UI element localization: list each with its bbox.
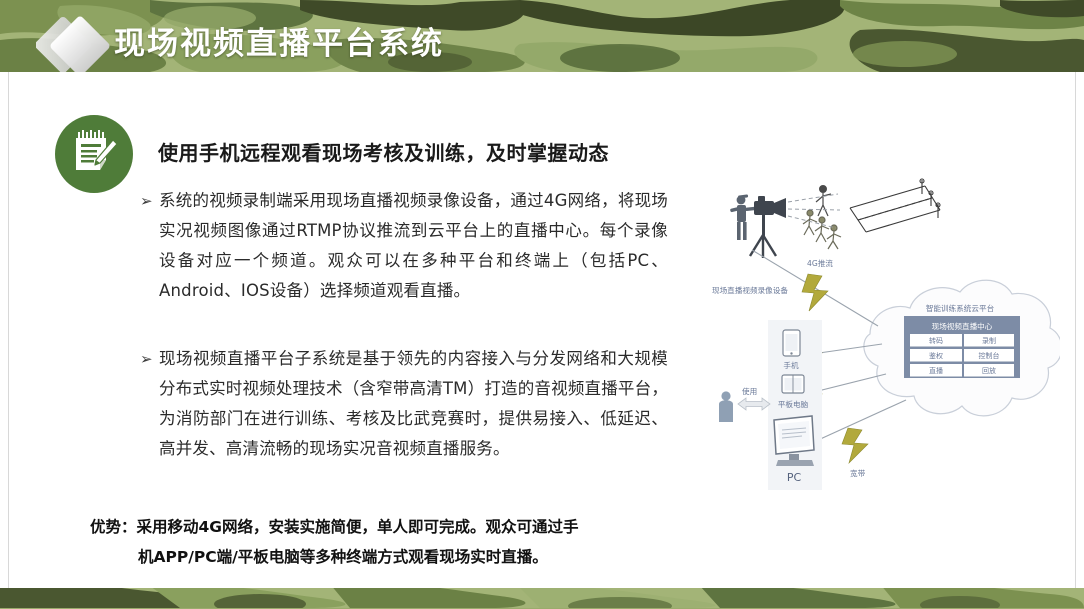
- slide-header: 现场视频直播平台系统: [0, 0, 1084, 72]
- slide-canvas: 现场视频直播平台系统: [0, 0, 1084, 609]
- notepad-pencil-icon: [55, 115, 133, 193]
- bullet-paragraph-1: ➢ 系统的视频录制端采用现场直播视频录像设备，通过4G网络，将现场实况视频图像通…: [140, 186, 668, 306]
- panel-cell-grid: 转码 录制 鉴权 控制台 直播 回放: [910, 334, 1014, 377]
- panel-cell: 录制: [982, 336, 996, 345]
- bullet-text: 系统的视频录制端采用现场直播视频录像设备，通过4G网络，将现场实况视频图像通过R…: [159, 186, 668, 306]
- panel-cell: 转码: [929, 336, 943, 345]
- live-center-panel: 现场视频直播中心 转码 录制 鉴权 控制台 直播 回放: [904, 316, 1020, 378]
- advantage-line-2: 机APP/PC端/平板电脑等多种终端方式观看现场实时直播。: [90, 542, 670, 572]
- source-device-label: 现场直播视频录像设备: [712, 285, 788, 295]
- double-arrow-icon: [738, 398, 770, 410]
- tablet-icon: [782, 375, 804, 393]
- bullet-text: 现场视频直播平台子系统是基于领先的内容接入与分发网络和大规模分布式实时视频处理技…: [159, 344, 668, 464]
- camera-view-rays-icon: [788, 194, 840, 228]
- device-label-pc: PC: [787, 471, 802, 484]
- device-label-tablet: 平板电脑: [778, 399, 809, 409]
- training-ground-icon: [850, 179, 940, 232]
- trainees-icon: [803, 210, 841, 249]
- bullet-arrow-icon: ➢: [140, 186, 159, 216]
- link-label-4g-push: 4G推流: [807, 258, 833, 268]
- panel-cell: 直播: [929, 366, 943, 375]
- device-label-phone: 手机: [783, 360, 799, 370]
- panel-title: 现场视频直播中心: [932, 321, 993, 331]
- advantage-line-1: 优势：采用移动4G网络，安装实施简便，单人即可完成。观众可通过手: [90, 512, 670, 542]
- link-label-broadband: 宽带: [850, 468, 866, 478]
- instructor-figure-icon: [816, 186, 831, 216]
- advantage-block: 优势：采用移动4G网络，安装实施简便，单人即可完成。观众可通过手 机APP/PC…: [90, 512, 670, 572]
- section-heading: 使用手机远程观看现场考核及训练，及时掌握动态: [158, 137, 609, 166]
- panel-cell: 控制台: [979, 351, 1000, 360]
- user-action-label: 使用: [742, 386, 757, 396]
- bullet-paragraph-2: ➢ 现场视频直播平台子系统是基于领先的内容接入与分发网络和大规模分布式实时视频处…: [140, 344, 668, 464]
- panel-cell: 鉴权: [929, 351, 943, 360]
- camouflage-pattern-icon: [0, 588, 1084, 608]
- bullet-arrow-icon: ➢: [140, 344, 159, 374]
- slide-footer: [0, 588, 1084, 609]
- panel-cell: 回放: [982, 366, 996, 375]
- page-title: 现场视频直播平台系统: [114, 18, 444, 63]
- architecture-diagram: 智能训练系统云平台 现场视频直播中心 转码 录制 鉴权 控制台 直播: [710, 178, 1060, 498]
- cloud-title: 智能训练系统云平台: [926, 303, 995, 313]
- smartphone-icon: [783, 330, 800, 356]
- person-icon: [719, 391, 733, 422]
